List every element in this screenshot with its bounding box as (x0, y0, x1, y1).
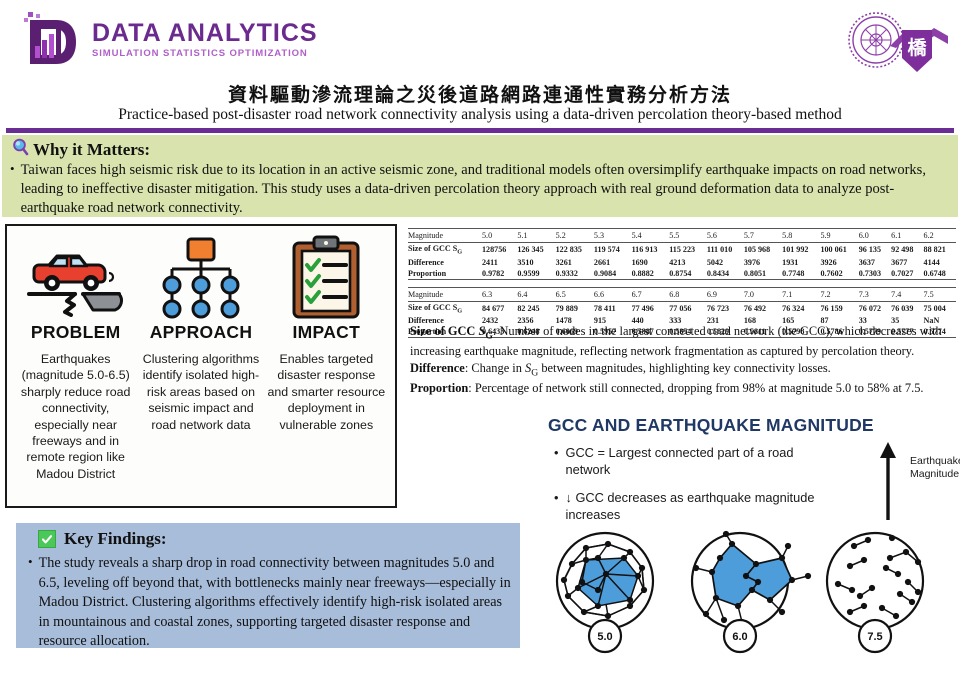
cell: 5.9 (820, 229, 858, 243)
cell: 5.5 (669, 229, 707, 243)
infographic-column-approach: APPROACH Clustering algorithms identify … (138, 234, 263, 506)
magnifier-icon (12, 138, 29, 161)
infographic-desc-impact: Enables targeted disaster response and s… (264, 351, 389, 433)
cell: 88 821 (924, 243, 956, 257)
cell: 105 968 (744, 243, 782, 257)
cell: 4213 (669, 257, 707, 268)
why-it-matters-body: • Taiwan faces high seismic risk due to … (10, 161, 950, 218)
fully-fragmented-network-icon: 7.5 (827, 533, 923, 652)
cell: 5.0 (482, 229, 517, 243)
infographic-desc-approach: Clustering algorithms identify isolated … (138, 351, 263, 433)
network-caption: 6.0 (732, 631, 747, 643)
table-row: Magnitude 6.3 6.4 6.5 6.6 6.7 6.8 6.9 7.… (408, 287, 956, 301)
why-it-matters-heading: Why it Matters: (12, 138, 150, 161)
infographic-title-approach: APPROACH (150, 322, 253, 343)
cell: 77 056 (669, 301, 707, 315)
cell: 5.6 (707, 229, 744, 243)
cell: 1931 (782, 257, 820, 268)
car-on-cracked-road-icon (21, 234, 131, 320)
network-caption: 7.5 (867, 631, 882, 643)
cell: 76 039 (891, 301, 923, 315)
key-findings-text: The study reveals a sharp drop in road c… (39, 554, 512, 652)
infographic-title-impact: IMPACT (293, 322, 361, 343)
cell: 79 889 (556, 301, 594, 315)
cell: 92 498 (891, 243, 923, 257)
cell: 6.5 (556, 287, 594, 301)
cell: 5.4 (632, 229, 670, 243)
cell: 77 496 (632, 301, 670, 315)
cell: 0.7602 (820, 268, 858, 280)
network-fragmentation-diagrams: 5.0 (520, 524, 960, 673)
cell: 0.7303 (859, 268, 891, 280)
table-row: Magnitude 5.0 5.1 5.2 5.3 5.4 5.5 5.6 5.… (408, 229, 956, 243)
cell: 5.2 (556, 229, 594, 243)
gcc-infographic-bullets: • GCC = Largest connected part of a road… (554, 445, 829, 536)
infographic-desc-problem: Earthquakes (magnitude 5.0-6.5) sharply … (13, 351, 138, 482)
cell: 6.2 (924, 229, 956, 243)
bar-chart-d-logo-icon (22, 10, 84, 70)
row-label-magnitude: Magnitude (408, 229, 482, 243)
row-label-size-of-gcc: Size of GCC SG (408, 243, 482, 257)
gcc-axis-label-line2: Magnitude (910, 468, 960, 481)
gcc-bullet-item: • GCC = Largest connected part of a road… (554, 445, 829, 478)
key-findings-section: Key Findings: • The study reveals a shar… (16, 523, 520, 648)
cell: 5042 (707, 257, 744, 268)
bullet-marker: • (554, 490, 558, 523)
note-text-difference: between magnitudes, highlighting key con… (538, 361, 831, 375)
gcc-axis-label: Earthquake Magnitude (910, 455, 960, 481)
cell: 3510 (517, 257, 555, 268)
cell: 7.5 (924, 287, 956, 301)
gcc-bullet-text: GCC = Largest connected part of a road n… (565, 445, 829, 478)
cluster-tree-diagram-icon (146, 234, 256, 320)
cell: 75 004 (924, 301, 956, 315)
cell: 76 723 (707, 301, 744, 315)
clipboard-checklist-icon (276, 234, 376, 320)
poster-header: DATA ANALYTICS SIMULATION STATISTICS OPT… (0, 0, 960, 124)
cell: 76 324 (782, 301, 820, 315)
cell: 0.8882 (632, 268, 670, 280)
table-notes: Size of GCC SG: Number of nodes in the l… (410, 323, 950, 398)
cell: 6.7 (632, 287, 670, 301)
cell: 3637 (859, 257, 891, 268)
page-title-en: Practice-based post-disaster road networ… (0, 106, 960, 124)
cell: 7.0 (744, 287, 782, 301)
cell: 119 574 (594, 243, 632, 257)
cell: 6.0 (859, 229, 891, 243)
cell: 82 245 (517, 301, 555, 315)
cell: 76 492 (744, 301, 782, 315)
note-label-size-of-gcc: Size of GCC (410, 324, 478, 338)
gcc-infographic-title: GCC AND EARTHQUAKE MAGNITUDE (548, 415, 874, 436)
cell: 0.8051 (744, 268, 782, 280)
note-difference: Difference: Change in SG between magnitu… (410, 360, 950, 380)
gcc-magnitude-table: Magnitude 5.0 5.1 5.2 5.3 5.4 5.5 5.6 5.… (408, 228, 956, 338)
key-findings-body: • The study reveals a sharp drop in road… (28, 554, 512, 652)
cell: 115 223 (669, 243, 707, 257)
cell: 76 072 (859, 301, 891, 315)
table-row: Difference 2411 3510 3261 2661 1690 4213… (408, 257, 956, 268)
gcc-bullet-item: • ↓ GCC decreases as earthquake magnitud… (554, 490, 829, 523)
bullet-marker: • (28, 554, 33, 652)
row-label-difference: Difference (408, 257, 482, 268)
cell: 7.3 (859, 287, 891, 301)
key-findings-label: Key Findings: (64, 529, 167, 549)
cell: 7.4 (891, 287, 923, 301)
cell: 0.6748 (924, 268, 956, 280)
brand-title: DATA ANALYTICS (92, 21, 318, 46)
cell: 4144 (924, 257, 956, 268)
network-caption: 5.0 (597, 631, 612, 643)
up-arrow-icon (878, 440, 898, 527)
brand-subtitle: SIMULATION STATISTICS OPTIMIZATION (92, 49, 318, 59)
gcc-magnitude-infographic: GCC AND EARTHQUAKE MAGNITUDE • GCC = Lar… (520, 412, 960, 673)
cell: 78 411 (594, 301, 632, 315)
svg-text:橋: 橋 (907, 36, 927, 59)
key-findings-heading: Key Findings: (38, 529, 167, 549)
green-check-icon (38, 530, 56, 548)
cell: 0.9084 (594, 268, 632, 280)
brand-logo: DATA ANALYTICS SIMULATION STATISTICS OPT… (22, 10, 318, 70)
cell: 122 835 (556, 243, 594, 257)
cell: 96 135 (859, 243, 891, 257)
cell: 5.3 (594, 229, 632, 243)
university-seal-logo-icon: 橋 (840, 6, 952, 78)
cell: 6.8 (669, 287, 707, 301)
cell: 2661 (594, 257, 632, 268)
cell: 0.9782 (482, 268, 517, 280)
dense-connected-network-icon: 5.0 (557, 533, 653, 652)
cell: 0.9332 (556, 268, 594, 280)
infographic-column-impact: IMPACT Enables targeted disaster respons… (264, 234, 389, 506)
why-it-matters-section: Why it Matters: • Taiwan faces high seis… (2, 135, 958, 217)
cell: 76 159 (820, 301, 858, 315)
cell: 7.2 (820, 287, 858, 301)
cell: 128756 (482, 243, 517, 257)
cell: 3926 (820, 257, 858, 268)
note-label-difference: Difference (410, 361, 465, 375)
cell: 0.8754 (669, 268, 707, 280)
cell: 3261 (556, 257, 594, 268)
page-title-zh: 資料驅動滲流理論之災後道路網路連通性實務分析方法 (0, 80, 960, 107)
partially-fragmented-network-icon: 6.0 (692, 531, 811, 652)
cell: 84 677 (482, 301, 517, 315)
cell: 0.9599 (517, 268, 555, 280)
cell: 5.7 (744, 229, 782, 243)
cell: 0.8434 (707, 268, 744, 280)
cell: 6.4 (517, 287, 555, 301)
row-label-size-of-gcc: Size of GCC SG (408, 301, 482, 315)
why-it-matters-text: Taiwan faces high seismic risk due to it… (21, 161, 950, 218)
table-row: Proportion 0.9782 0.9599 0.9332 0.9084 0… (408, 268, 956, 280)
row-label-magnitude: Magnitude (408, 287, 482, 301)
note-proportion: Proportion: Percentage of network still … (410, 380, 950, 397)
table-block-gap (408, 279, 956, 287)
cell: 6.3 (482, 287, 517, 301)
cell: 5.1 (517, 229, 555, 243)
row-label-proportion: Proportion (408, 268, 482, 280)
poster-page: DATA ANALYTICS SIMULATION STATISTICS OPT… (0, 0, 960, 673)
cell: 6.1 (891, 229, 923, 243)
cell: 5.8 (782, 229, 820, 243)
gcc-axis-label-line1: Earthquake (910, 455, 960, 468)
table-row: Size of GCC SG 84 677 82 245 79 889 78 4… (408, 301, 956, 315)
why-it-matters-label: Why it Matters: (33, 140, 150, 160)
infographic-column-problem: PROBLEM Earthquakes (magnitude 5.0-6.5) … (13, 234, 138, 506)
cell: 116 913 (632, 243, 670, 257)
cell: 6.6 (594, 287, 632, 301)
cell: 101 992 (782, 243, 820, 257)
cell: 6.9 (707, 287, 744, 301)
cell: 111 010 (707, 243, 744, 257)
header-divider (6, 128, 954, 133)
cell: 1690 (632, 257, 670, 268)
cell: 126 345 (517, 243, 555, 257)
problem-approach-impact-infographic: PROBLEM Earthquakes (magnitude 5.0-6.5) … (5, 224, 397, 508)
cell: 3976 (744, 257, 782, 268)
cell: 3677 (891, 257, 923, 268)
cell: 2411 (482, 257, 517, 268)
cell: 0.7027 (891, 268, 923, 280)
cell: 7.1 (782, 287, 820, 301)
note-size-of-gcc: Size of GCC SG: Number of nodes in the l… (410, 323, 950, 360)
cell: 100 061 (820, 243, 858, 257)
bullet-marker: • (10, 161, 15, 218)
table-row: Size of GCC SG 128756 126 345 122 835 11… (408, 243, 956, 257)
bullet-marker: • (554, 445, 558, 478)
cell: 0.7748 (782, 268, 820, 280)
infographic-title-problem: PROBLEM (31, 322, 121, 343)
gcc-bullet-text: ↓ GCC decreases as earthquake magnitude … (565, 490, 829, 523)
note-label-proportion: Proportion (410, 381, 468, 395)
note-text-proportion: : Percentage of network still connected,… (468, 381, 923, 395)
